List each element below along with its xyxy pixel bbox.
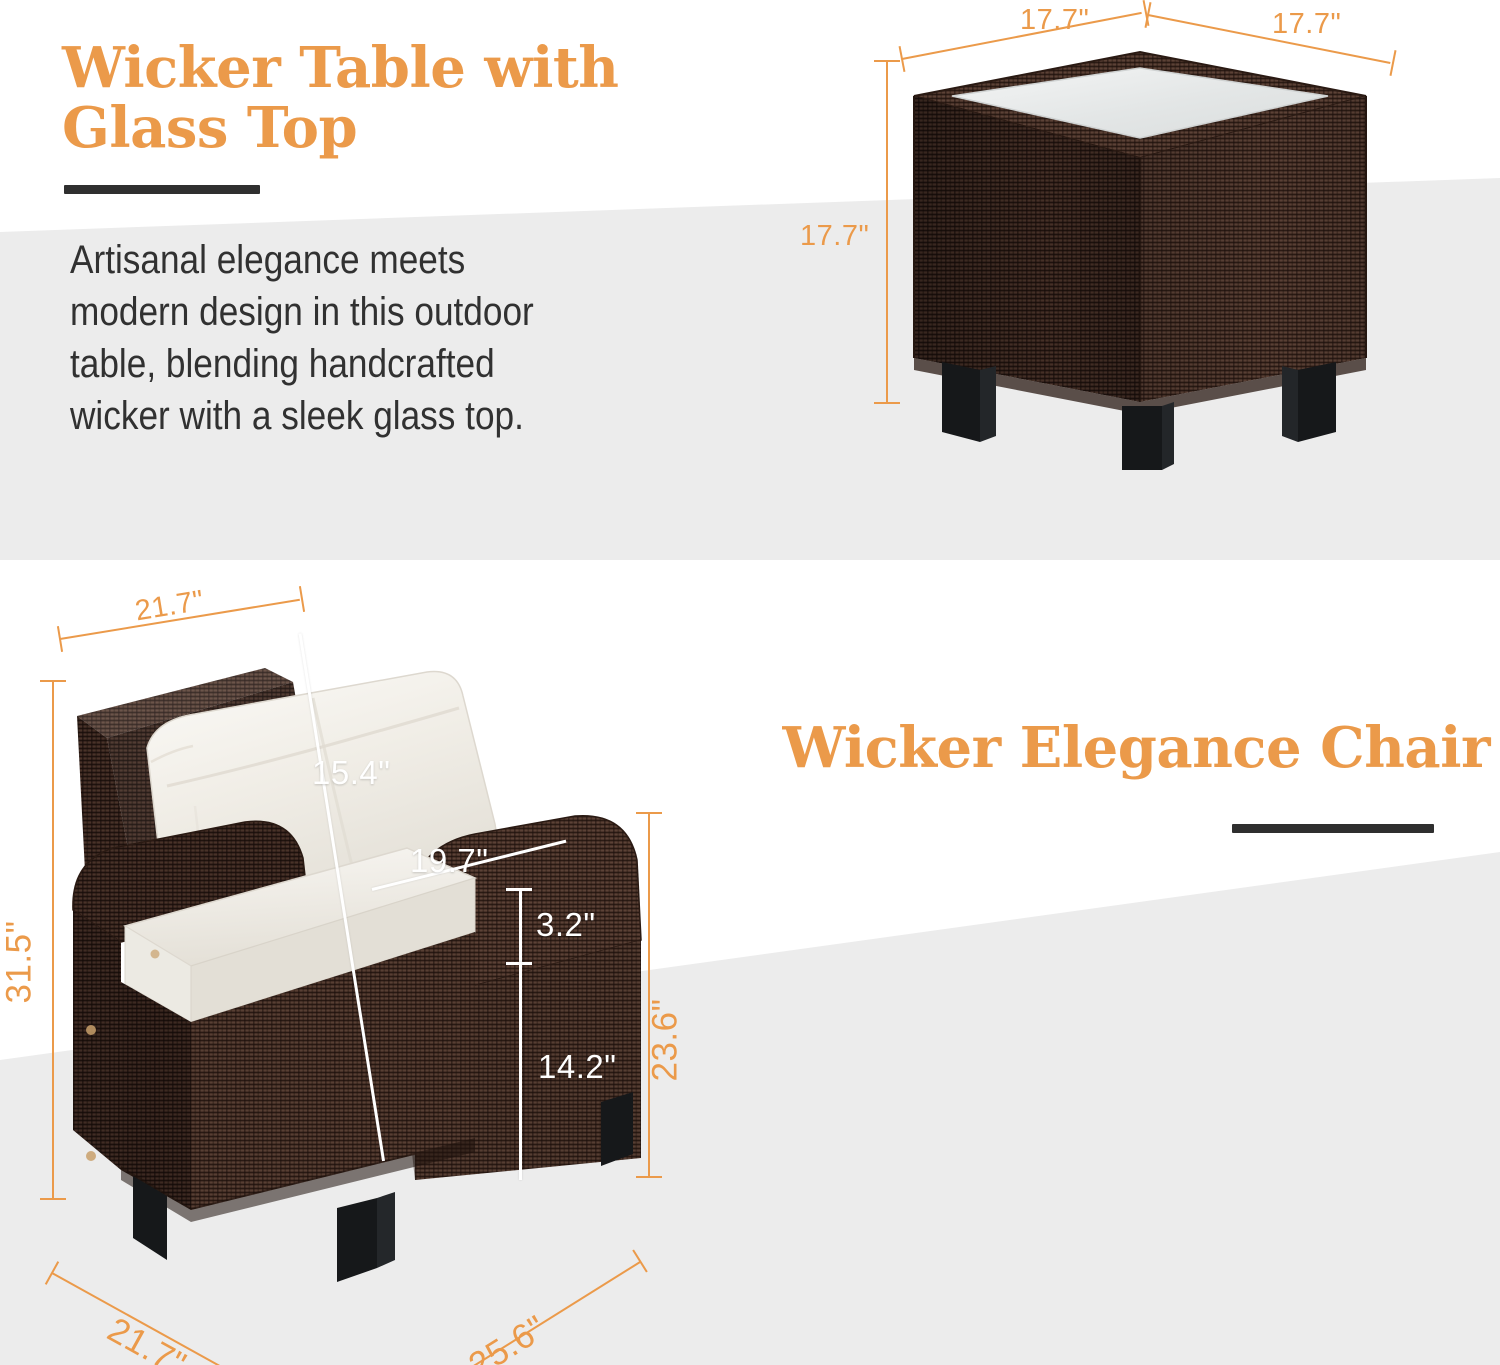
dim-label-chair-seat-height: 14.2" xyxy=(538,1048,616,1086)
dim-label-chair-total-height: 31.5" xyxy=(0,920,40,1003)
dim-tick-table-depth-side-end xyxy=(1389,50,1396,76)
dim-tick-table-height-bottom xyxy=(874,402,900,404)
dim-line-chair-seat-height xyxy=(519,962,522,1180)
dim-label-chair-base-depth: 25.6" xyxy=(462,1308,554,1365)
dim-tick-chair-total-height-bottom xyxy=(40,1198,66,1200)
heading-rule-table xyxy=(64,185,260,194)
dim-line-chair-arm-height xyxy=(648,812,650,1178)
section-wicker-table: Wicker Table with Glass Top Artisanal el… xyxy=(0,0,1500,570)
dim-tick-chair-arm-height-top xyxy=(636,812,662,814)
product-illustration-wicker-chair xyxy=(55,610,695,1310)
section-body-wicker-table: Artisanal elegance meets modern design i… xyxy=(70,234,739,442)
heading-rule-chair xyxy=(1232,824,1434,833)
dim-label-chair-cushion-thickness: 3.2" xyxy=(536,906,596,944)
dim-label-table-height: 17.7" xyxy=(800,220,869,253)
section-heading-wicker-table: Wicker Table with Glass Top xyxy=(62,38,702,159)
dim-label-chair-arm-height: 23.6" xyxy=(646,998,686,1081)
product-illustration-wicker-table xyxy=(900,40,1380,470)
section-wicker-chair: Wicker Elegance Chair Experience refined… xyxy=(0,570,1500,1365)
dim-tick-chair-total-height-top xyxy=(40,680,66,682)
chair-svg xyxy=(55,610,695,1310)
section-heading-wicker-chair: Wicker Elegance Chair xyxy=(700,718,1490,778)
dim-tick-table-height-top xyxy=(874,60,900,62)
dim-line-table-height xyxy=(886,60,888,403)
dim-tick-chair-cushion-thickness-top xyxy=(506,888,532,891)
dim-label-chair-back-cushion-height: 15.4" xyxy=(312,754,390,792)
dim-label-chair-base-width: 21.7" xyxy=(101,1310,193,1365)
dim-label-chair-seat-depth: 19.7" xyxy=(410,842,488,880)
dim-label-table-width-front: 17.7" xyxy=(1020,4,1089,37)
dim-label-table-depth-side: 17.7" xyxy=(1272,8,1341,41)
dim-tick-chair-arm-height-bottom xyxy=(636,1176,662,1178)
infographic-page: Wicker Table with Glass Top Artisanal el… xyxy=(0,0,1500,1365)
table-svg xyxy=(900,40,1380,470)
dim-line-chair-cushion-thickness xyxy=(519,888,522,964)
dim-line-chair-total-height xyxy=(52,680,54,1200)
